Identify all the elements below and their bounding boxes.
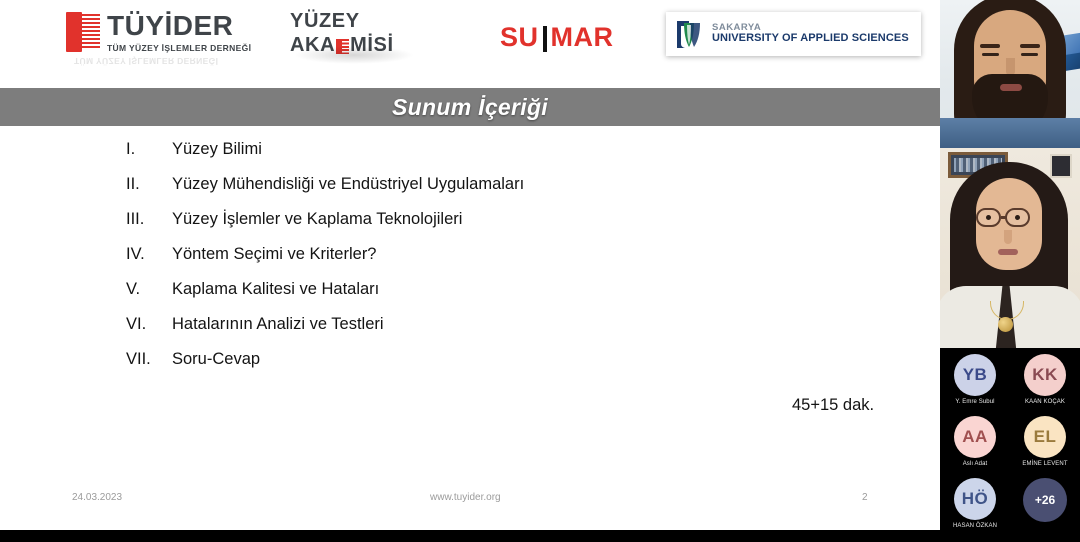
footer-url: www.tuyider.org [430, 492, 501, 503]
agenda-item: VI. Hatalarının Analizi ve Testleri [0, 315, 940, 350]
agenda-item-label: Yöntem Seçimi ve Kriterler? [172, 245, 377, 264]
agenda-item: V. Kaplama Kalitesi ve Hataları [0, 280, 940, 315]
agenda-item: II. Yüzey Mühendisliği ve Endüstriyel Uy… [0, 175, 940, 210]
agenda-item-number: IV. [0, 245, 172, 264]
avatar-initials: HÖ [962, 489, 989, 509]
avatar-name: KAAN KOÇAK [1025, 399, 1065, 405]
agenda-item-number: III. [0, 210, 172, 229]
tuyider-wordmark: TÜYİDER [107, 12, 251, 40]
agenda-item-label: Yüzey Bilimi [172, 140, 262, 159]
logo-sakarya-university: SAKARYA UNIVERSITY OF APPLIED SCIENCES [666, 12, 921, 56]
agenda-item-label: Hatalarının Analizi ve Testleri [172, 315, 384, 334]
tuyider-tagline: TÜM YÜZEY İŞLEMLER DERNEĞİ [107, 44, 251, 53]
agenda-item-label: Kaplama Kalitesi ve Hataları [172, 280, 379, 299]
avatar[interactable]: KK [1024, 354, 1066, 396]
agenda-item-number: I. [0, 140, 172, 159]
avatar-name: HASAN ÖZKAN [953, 523, 997, 529]
sumar-divider-icon [543, 26, 547, 52]
slide-footer: 24.03.2023 www.tuyider.org 2 [0, 492, 940, 512]
sakarya-crest-icon [674, 18, 704, 50]
yuzey-line1: YÜZEY [290, 10, 360, 34]
logo-sumar: SU MAR [500, 22, 614, 53]
tuyider-mark-icon [66, 12, 100, 52]
slide-title: Sunum İçeriği [392, 94, 548, 121]
agenda-item-number: II. [0, 175, 172, 194]
duration-note: 45+15 dak. [792, 396, 874, 415]
avatar[interactable]: YB [954, 354, 996, 396]
slide-letterbox-band [0, 530, 940, 542]
avatar-initials: EL [1034, 427, 1057, 447]
overflow-count-badge[interactable]: +26 [1023, 478, 1067, 522]
logo-tuyider: TÜYİDER TÜM YÜZEY İŞLEMLER DERNEĞİ [66, 12, 251, 53]
agenda-item-label: Soru-Cevap [172, 350, 260, 369]
agenda-list: I. Yüzey Bilimi II. Yüzey Mühendisliği v… [0, 140, 940, 385]
agenda-item: I. Yüzey Bilimi [0, 140, 940, 175]
sumar-part2: MAR [551, 22, 614, 53]
avatar-initials: KK [1032, 365, 1058, 385]
participant-avatar-yb[interactable]: YB Y. Emre Subul [944, 354, 1006, 405]
participant-avatar-aa[interactable]: AA Aslı Adat [944, 416, 1006, 467]
avatar-name: EMİNE LEVENT [1022, 461, 1067, 467]
active-speaker-video-tile[interactable] [940, 0, 1080, 148]
participant-avatar-kk[interactable]: KK KAAN KOÇAK [1014, 354, 1076, 405]
agenda-item: III. Yüzey İşlemler ve Kaplama Teknoloji… [0, 210, 940, 245]
footer-date: 24.03.2023 [72, 492, 122, 503]
participant-avatar-grid: YB Y. Emre Subul KK KAAN KOÇAK AA Aslı A… [940, 348, 1080, 542]
agenda-item-number: V. [0, 280, 172, 299]
agenda-item-label: Yüzey İşlemler ve Kaplama Teknolojileri [172, 210, 462, 229]
tuyider-tagline-reflection: TÜM YÜZEY İŞLEMLER DERNEĞİ [74, 56, 218, 66]
agenda-item: IV. Yöntem Seçimi ve Kriterler? [0, 245, 940, 280]
avatar-initials: AA [962, 427, 988, 447]
participant-avatar-el[interactable]: EL EMİNE LEVENT [1014, 416, 1076, 467]
avatar-name: Y. Emre Subul [955, 399, 994, 405]
logo-strip: TÜYİDER TÜM YÜZEY İŞLEMLER DERNEĞİ TÜM Y… [0, 0, 940, 88]
footer-page-number: 2 [862, 492, 868, 503]
presentation-slide: TÜYİDER TÜM YÜZEY İŞLEMLER DERNEĞİ TÜM Y… [0, 0, 940, 542]
participant-avatar-ho[interactable]: HÖ HASAN ÖZKAN [944, 478, 1006, 529]
sumar-part1: SU [500, 22, 539, 53]
agenda-item-number: VII. [0, 350, 172, 369]
avatar-name: Aslı Adat [963, 461, 988, 467]
agenda-item-number: VI. [0, 315, 172, 334]
participants-panel: YB Y. Emre Subul KK KAAN KOÇAK AA Aslı A… [940, 0, 1080, 542]
avatar[interactable]: AA [954, 416, 996, 458]
sakarya-line2: UNIVERSITY OF APPLIED SCIENCES [712, 33, 909, 45]
participant-overflow[interactable]: +26 [1014, 478, 1076, 522]
meeting-screen-share-view: TÜYİDER TÜM YÜZEY İŞLEMLER DERNEĞİ TÜM Y… [0, 0, 1080, 542]
yuzey-shadow [294, 46, 414, 64]
agenda-item-label: Yüzey Mühendisliği ve Endüstriyel Uygula… [172, 175, 524, 194]
participant-video-tile[interactable] [940, 148, 1080, 348]
slide-title-band: Sunum İçeriği [0, 88, 940, 126]
avatar[interactable]: HÖ [954, 478, 996, 520]
logo-yuzey-akademisi: YÜZEY AKA MİSİ [290, 10, 394, 57]
agenda-item: VII. Soru-Cevap [0, 350, 940, 385]
avatar[interactable]: EL [1024, 416, 1066, 458]
avatar-initials: YB [963, 365, 988, 385]
